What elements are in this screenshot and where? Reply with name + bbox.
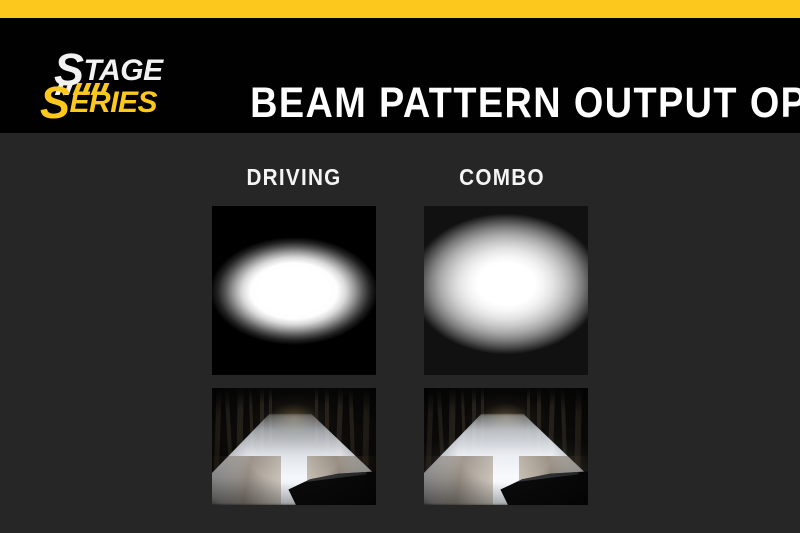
logo-series-capital: S [40,77,70,128]
photo-vignette [212,388,376,505]
column-label-driving: DRIVING [220,166,368,189]
logo-series-rest: ERIES [70,86,158,119]
combo-road-photo [424,388,588,505]
combo-beam-pattern [424,206,588,375]
logo-line-series: SERIES [40,85,157,120]
top-accent-bar [0,0,800,18]
stage-series-logo: STAGE SERIES [26,51,184,127]
combo-beam-glow [424,206,588,375]
driving-beam-pattern [212,206,376,375]
photo-vignette [424,388,588,505]
beam-pattern-infographic: STAGE SERIES BEAM PATTERN OUTPUT OPTIONS… [0,0,800,533]
column-label-combo: COMBO [428,166,576,189]
driving-beam-glow [212,216,376,366]
logo-line-stage: STAGE [54,52,163,87]
header-band: STAGE SERIES BEAM PATTERN OUTPUT OPTIONS [0,18,800,133]
driving-road-photo [212,388,376,505]
page-title: BEAM PATTERN OUTPUT OPTIONS [250,82,750,125]
